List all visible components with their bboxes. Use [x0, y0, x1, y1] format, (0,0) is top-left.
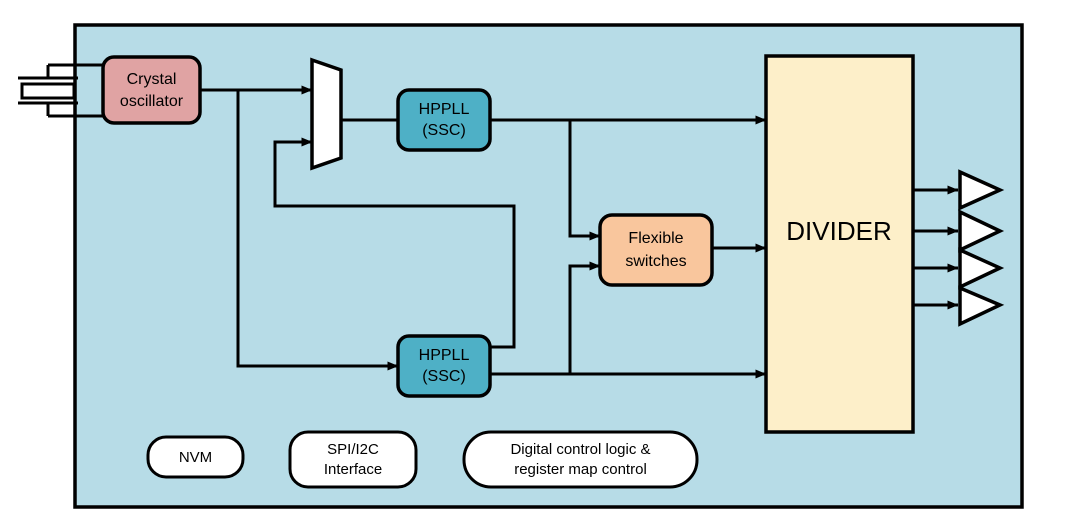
flexible-switches-label-line2: switches [625, 253, 686, 270]
spi-i2c-interface-block[interactable]: SPI/I2C Interface [290, 432, 416, 487]
crystal-oscillator-label-line2: oscillator [120, 93, 184, 110]
mux[interactable] [312, 60, 341, 168]
spi-i2c-label-line1: SPI/I2C [327, 441, 379, 458]
hppll-bottom-label-line1: HPPLL [419, 347, 470, 364]
hppll-bottom-block[interactable]: HPPLL (SSC) [398, 336, 490, 396]
digital-control-logic-block[interactable]: Digital control logic & register map con… [464, 432, 697, 487]
nvm-block[interactable]: NVM [148, 437, 243, 477]
divider-block[interactable]: DIVIDER [766, 56, 913, 432]
flexible-switches-block[interactable]: Flexible switches [600, 215, 712, 285]
nvm-label: NVM [179, 449, 212, 466]
diagram-canvas: Crystal oscillator HPPLL (SSC) HPPLL (SS… [0, 0, 1067, 530]
crystal-oscillator-block[interactable]: Crystal oscillator [103, 57, 200, 123]
hppll-top-label-line2: (SSC) [422, 122, 466, 139]
crystal-oscillator-label-line1: Crystal [127, 71, 177, 88]
block-diagram: Crystal oscillator HPPLL (SSC) HPPLL (SS… [0, 0, 1067, 530]
hppll-top-block[interactable]: HPPLL (SSC) [398, 90, 490, 150]
hppll-bottom-label-line2: (SSC) [422, 368, 466, 385]
digital-control-logic-label-line1: Digital control logic & [510, 441, 650, 458]
hppll-top-label-line1: HPPLL [419, 101, 470, 118]
flexible-switches-label-line1: Flexible [628, 230, 683, 247]
divider-label: DIVIDER [786, 216, 891, 246]
spi-i2c-label-line2: Interface [324, 461, 382, 478]
digital-control-logic-label-line2: register map control [514, 461, 647, 478]
